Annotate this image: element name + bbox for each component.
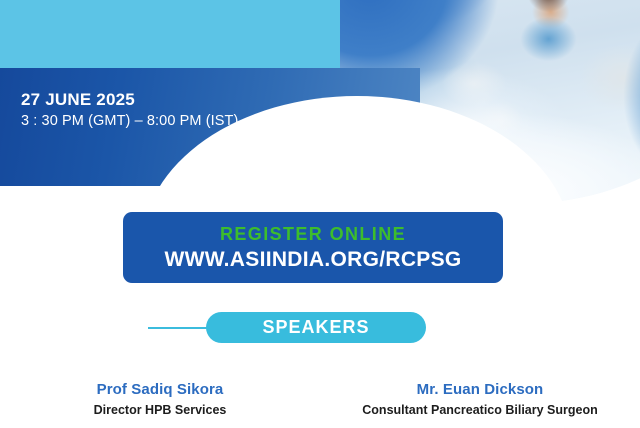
event-date: 27 JUNE 2025 xyxy=(21,89,238,110)
speaker-role: Consultant Pancreatico Biliary Surgeon xyxy=(326,402,634,419)
speaker-role: Director HPB Services xyxy=(6,402,314,419)
event-time: 3 : 30 PM (GMT) – 8:00 PM (IST) xyxy=(21,111,238,131)
register-online-button[interactable]: REGISTER ONLINE WWW.ASIINDIA.ORG/RCPSG xyxy=(123,212,503,283)
speaker-name: Mr. Euan Dickson xyxy=(326,380,634,399)
register-label: REGISTER ONLINE xyxy=(220,223,406,245)
speakers-list: Prof Sadiq Sikora Director HPB Services … xyxy=(0,380,640,419)
speaker-card: Prof Sadiq Sikora Director HPB Services xyxy=(0,380,320,419)
speaker-card: Mr. Euan Dickson Consultant Pancreatico … xyxy=(320,380,640,419)
register-url: WWW.ASIINDIA.ORG/RCPSG xyxy=(164,247,461,273)
speaker-name: Prof Sadiq Sikora xyxy=(6,380,314,399)
webinar-poster: Malignant Biliary Obstructions 27 JUNE 2… xyxy=(0,0,640,428)
speakers-heading-pill: SPEAKERS xyxy=(206,312,426,343)
event-datetime: 27 JUNE 2025 3 : 30 PM (GMT) – 8:00 PM (… xyxy=(21,89,238,131)
title-band xyxy=(0,0,340,68)
speakers-heading-label: SPEAKERS xyxy=(262,317,369,338)
